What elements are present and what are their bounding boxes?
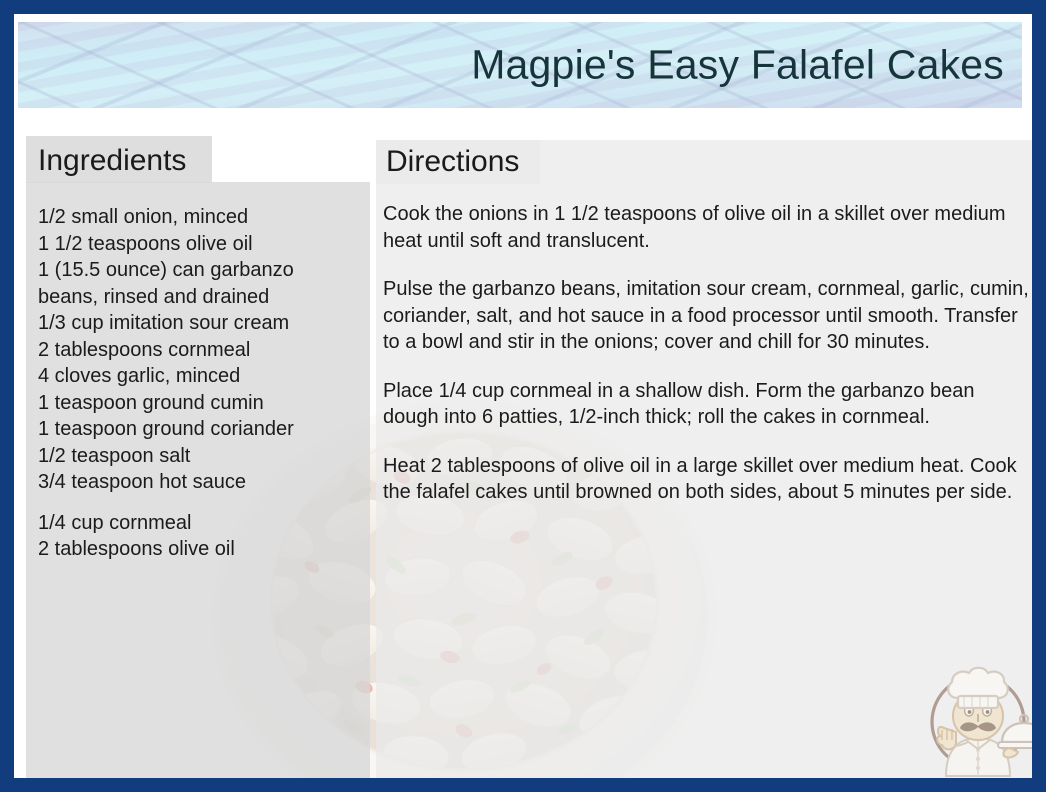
- ingredient-line: 2 tablespoons olive oil: [38, 536, 360, 563]
- direction-step: Pulse the garbanzo beans, imitation sour…: [383, 276, 1031, 356]
- ingredient-spacer: [38, 496, 360, 510]
- page-title: Magpie's Easy Falafel Cakes: [471, 42, 1004, 89]
- ingredient-line: 1/2 small onion, minced: [38, 204, 360, 231]
- ingredient-line: 4 cloves garlic, minced: [38, 363, 360, 390]
- direction-step: Heat 2 tablespoons of olive oil in a lar…: [383, 453, 1031, 506]
- directions-list: Cook the onions in 1 1/2 teaspoons of ol…: [383, 201, 1031, 506]
- title-banner: Magpie's Easy Falafel Cakes: [18, 22, 1022, 108]
- directions-heading: Directions: [386, 145, 519, 179]
- recipe-page: Magpie's Easy Falafel Cakes Ingredients …: [14, 14, 1032, 778]
- ingredients-list: 1/2 small onion, minced1 1/2 teaspoons o…: [38, 204, 360, 563]
- ingredient-line: 1 1/2 teaspoons olive oil: [38, 231, 360, 258]
- ingredients-heading: Ingredients: [38, 144, 186, 178]
- direction-step: Cook the onions in 1 1/2 teaspoons of ol…: [383, 201, 1031, 254]
- direction-step: Place 1/4 cup cornmeal in a shallow dish…: [383, 378, 1031, 431]
- ingredient-line: 1/3 cup imitation sour cream: [38, 310, 360, 337]
- ingredient-line: 3/4 teaspoon hot sauce: [38, 469, 360, 496]
- ingredient-line: beans, rinsed and drained: [38, 284, 360, 311]
- recipe-card: Magpie's Easy Falafel Cakes Ingredients …: [0, 0, 1046, 792]
- ingredient-line: 1 teaspoon ground coriander: [38, 416, 360, 443]
- ingredient-line: 1 teaspoon ground cumin: [38, 390, 360, 417]
- ingredient-line: 2 tablespoons cornmeal: [38, 337, 360, 364]
- ingredient-line: 1 (15.5 ounce) can garbanzo: [38, 257, 360, 284]
- ingredient-line: 1/4 cup cornmeal: [38, 510, 360, 537]
- ingredient-line: 1/2 teaspoon salt: [38, 443, 360, 470]
